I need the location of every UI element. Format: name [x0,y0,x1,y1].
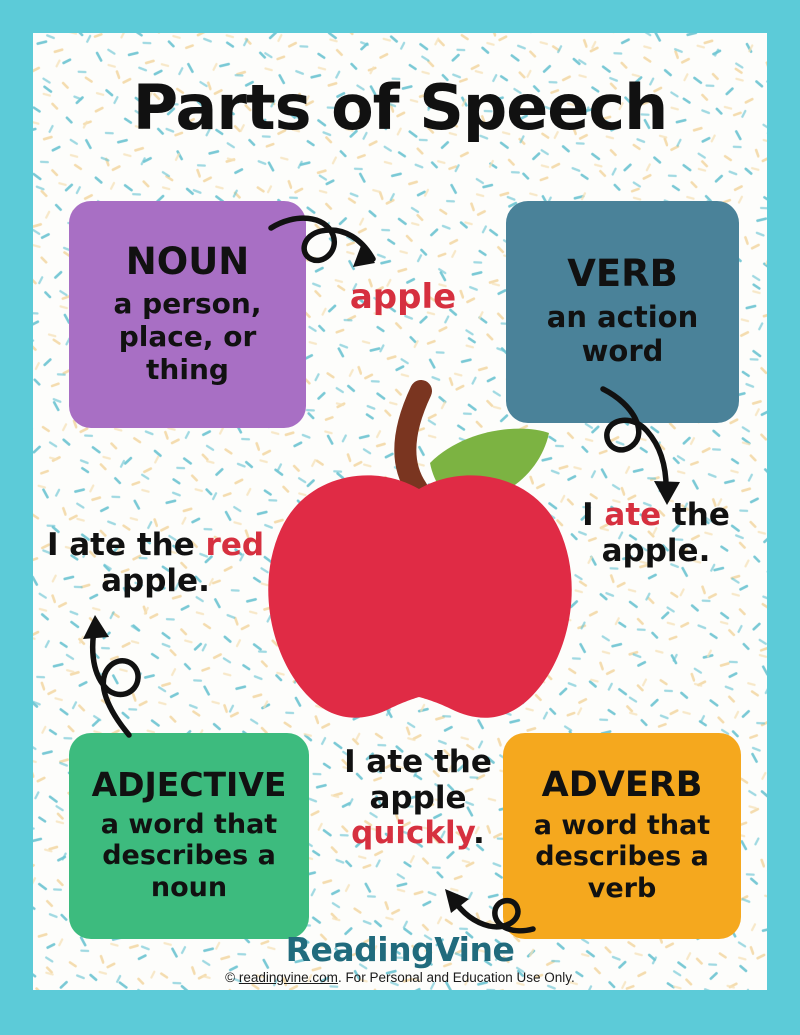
concept-term-noun: NOUN [126,243,249,282]
concept-description-verb: an action word [516,300,729,368]
apple-body [268,475,571,717]
example-verb-highlight: ate [604,497,661,533]
example-adverb-highlight: quickly [351,815,473,851]
concept-description-adverb: a word that describes a verb [513,810,731,906]
example-noun-highlight: apple [350,277,456,317]
concept-term-verb: VERB [567,255,678,294]
concept-term-adjective: ADJECTIVE [92,768,287,803]
poster-canvas: Parts of Speech NOUN a person, place, or… [33,33,767,990]
example-adverb-prefix: I ate the apple [344,744,492,816]
curly-arrow-adjective-to-sentence [83,615,138,735]
example-adjective-prefix: I ate the [47,527,206,563]
concept-description-adjective: a word that describes a noun [79,809,299,905]
copyright-domain-link[interactable]: readingvine.com [239,970,338,985]
example-adverb-suffix: . [473,815,485,851]
parts-of-speech-poster: Parts of Speech NOUN a person, place, or… [0,0,800,1035]
copyright-notice: © readingvine.com. For Personal and Educ… [33,971,767,985]
concept-box-adverb[interactable]: ADVERB a word that describes a verb [503,733,741,939]
apple-illustration [249,371,589,731]
readingvine-logo: ReadingVine [33,933,767,966]
apple-stem [405,391,421,489]
example-sentence-adjective: I ate the red apple. [43,528,268,599]
concept-box-verb[interactable]: VERB an action word [506,201,739,423]
concept-box-adjective[interactable]: ADJECTIVE a word that describes a noun [69,733,309,939]
page-title: Parts of Speech [33,71,767,144]
example-sentence-verb: I ate the apple. [551,498,761,569]
example-verb-prefix: I [582,497,604,533]
concept-box-noun[interactable]: NOUN a person, place, or thing [69,201,306,428]
example-sentence-noun: apple [333,278,473,317]
logo-text-reading: Reading [286,930,435,969]
copyright-rest: . For Personal and Education Use Only. [338,970,575,985]
concept-term-adverb: ADVERB [542,767,703,804]
footer: ReadingVine © readingvine.com. For Perso… [33,933,767,985]
copyright-symbol: © [225,970,239,985]
logo-text-vine: Vine [434,930,514,969]
example-sentence-adverb: I ate the apple quickly. [323,745,513,852]
example-adjective-highlight: red [206,527,265,563]
example-adjective-suffix: apple. [101,563,210,599]
concept-description-noun: a person, place, or thing [79,287,296,386]
